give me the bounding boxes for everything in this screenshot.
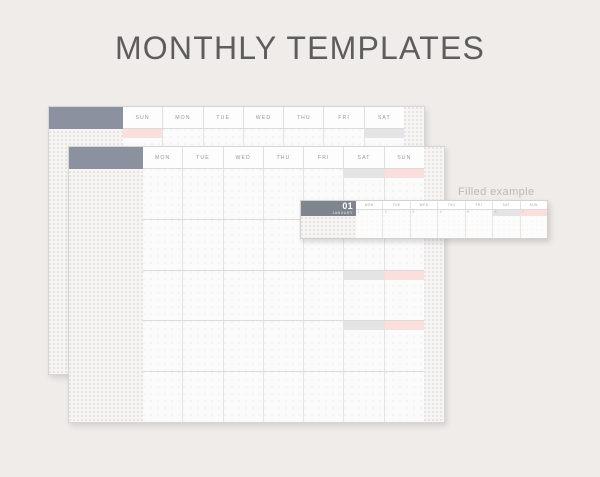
weekday-header-cell: SAT <box>365 107 404 129</box>
weekday-header-cell: SUN <box>123 107 163 129</box>
mini-calendar-grid: MON TUE WED THU FRI SAT SUN 1 2 3 4 5 6 … <box>356 201 547 238</box>
weekday-header-cell: SUN <box>385 147 424 169</box>
weekday-header-cell: MON <box>356 201 383 209</box>
day-cell[interactable] <box>183 321 223 371</box>
day-number: 2 <box>385 211 387 214</box>
weekday-header-cell: TUE <box>383 201 410 209</box>
day-cell[interactable] <box>264 271 304 321</box>
day-cell[interactable] <box>143 169 183 219</box>
weekday-header-cell: MON <box>163 107 203 129</box>
day-number: 4 <box>440 211 442 214</box>
sunday-highlight-strip <box>385 169 424 178</box>
mini-day-cell[interactable] <box>466 224 493 238</box>
page-title: MONTHLY TEMPLATES <box>0 30 600 67</box>
weekday-header-cell: SAT <box>344 147 384 169</box>
day-cell[interactable] <box>264 220 304 270</box>
weekday-header-row: MON TUE WED THU FRI SAT SUN <box>143 147 424 169</box>
weekday-header-cell: FRI <box>466 201 493 209</box>
day-cell[interactable] <box>304 321 344 371</box>
weekday-header-cell: WED <box>224 147 264 169</box>
weekday-header-cell: THU <box>284 107 324 129</box>
month-title-block <box>69 147 143 169</box>
month-title-block <box>49 107 123 129</box>
day-cell[interactable] <box>385 321 424 371</box>
saturday-highlight-strip <box>493 210 519 216</box>
mini-day-cell[interactable] <box>438 224 465 238</box>
day-cell[interactable] <box>224 271 264 321</box>
day-cell[interactable] <box>143 321 183 371</box>
weekday-header-cell: TUE <box>204 107 244 129</box>
day-number: 6 <box>495 211 497 214</box>
weekday-header-cell: MON <box>143 147 183 169</box>
day-cell[interactable] <box>143 220 183 270</box>
saturday-highlight-strip <box>344 169 383 178</box>
month-name: JANUARY <box>301 212 353 215</box>
day-cell[interactable] <box>183 271 223 321</box>
day-cell[interactable] <box>183 220 223 270</box>
day-cell[interactable] <box>304 372 344 422</box>
week-row <box>143 372 424 422</box>
day-cell[interactable] <box>344 321 384 371</box>
weekday-header-cell: SUN <box>521 201 547 209</box>
weekday-header-row: SUN MON TUE WED THU FRI SAT <box>123 107 404 129</box>
day-cell[interactable] <box>344 372 384 422</box>
weekday-header-cell: FRI <box>324 107 364 129</box>
day-cell[interactable] <box>224 321 264 371</box>
week-row <box>143 321 424 372</box>
saturday-highlight-strip <box>344 321 383 330</box>
day-number: 5 <box>467 211 469 214</box>
mini-day-cell[interactable] <box>383 224 410 238</box>
mini-day-cell[interactable] <box>493 224 520 238</box>
day-cell[interactable] <box>143 372 183 422</box>
weekday-header-cell: FRI <box>304 147 344 169</box>
mini-day-cell[interactable] <box>411 224 438 238</box>
day-cell[interactable] <box>385 372 424 422</box>
mini-day-cell[interactable]: 2 <box>383 210 410 224</box>
notes-column <box>69 147 143 422</box>
mini-weekday-header-row: MON TUE WED THU FRI SAT SUN <box>356 201 547 210</box>
weekday-header-cell: THU <box>264 147 304 169</box>
mini-week-row <box>356 224 547 238</box>
mini-day-cell[interactable]: 1 <box>356 210 383 224</box>
mini-day-cell[interactable] <box>521 224 547 238</box>
week-row <box>143 271 424 322</box>
day-cell[interactable] <box>344 271 384 321</box>
calendar-grid: MON TUE WED THU FRI SAT SUN <box>143 147 424 422</box>
weekday-header-cell: WED <box>244 107 284 129</box>
day-cell[interactable] <box>385 271 424 321</box>
day-number: 1 <box>358 211 360 214</box>
day-cell[interactable] <box>183 372 223 422</box>
day-cell[interactable] <box>264 321 304 371</box>
mini-day-cell[interactable]: 4 <box>438 210 465 224</box>
weekday-header-cell: SAT <box>493 201 520 209</box>
day-cell[interactable] <box>304 271 344 321</box>
side-dot-strip <box>424 147 444 422</box>
day-cell[interactable] <box>224 220 264 270</box>
day-cell[interactable] <box>264 169 304 219</box>
day-cell[interactable] <box>183 169 223 219</box>
sunday-highlight-strip <box>521 210 547 216</box>
day-number: 3 <box>412 211 414 214</box>
mini-week-row: 1 2 3 4 5 6 7 <box>356 210 547 224</box>
saturday-highlight-strip <box>365 129 404 138</box>
day-cell[interactable] <box>264 372 304 422</box>
day-cell[interactable] <box>224 372 264 422</box>
day-number: 7 <box>522 211 524 214</box>
mini-day-cell[interactable]: 6 <box>493 210 520 224</box>
calendar-template-monday-start[interactable]: MON TUE WED THU FRI SAT SUN <box>68 146 445 423</box>
filled-example-label: Filled example <box>458 186 535 198</box>
mini-day-cell[interactable]: 7 <box>521 210 547 224</box>
sunday-highlight-strip <box>385 321 424 330</box>
weekday-header-cell: WED <box>411 201 438 209</box>
mini-day-cell[interactable]: 5 <box>466 210 493 224</box>
month-number: 01 <box>301 202 353 211</box>
sunday-highlight-strip <box>385 271 424 280</box>
day-cell[interactable] <box>224 169 264 219</box>
weekday-header-cell: THU <box>438 201 465 209</box>
day-cell[interactable] <box>143 271 183 321</box>
weekday-header-cell: TUE <box>183 147 223 169</box>
mini-day-cell[interactable] <box>356 224 383 238</box>
mini-day-cell[interactable]: 3 <box>411 210 438 224</box>
filled-example-card[interactable]: 01 JANUARY MON TUE WED THU FRI SAT SUN 1… <box>300 200 548 239</box>
saturday-highlight-strip <box>344 271 383 280</box>
sunday-highlight-strip <box>123 129 162 138</box>
mini-month-title-block: 01 JANUARY <box>301 201 356 216</box>
